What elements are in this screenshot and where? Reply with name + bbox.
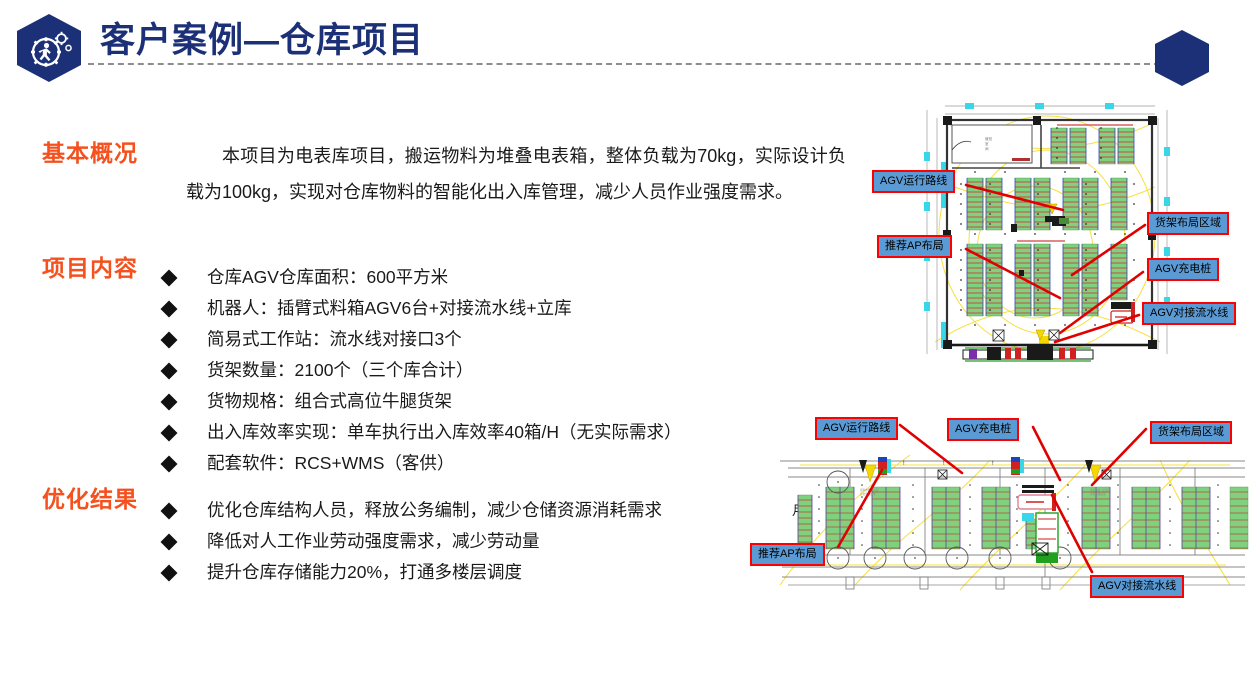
callout-leader-lines (0, 0, 1260, 700)
